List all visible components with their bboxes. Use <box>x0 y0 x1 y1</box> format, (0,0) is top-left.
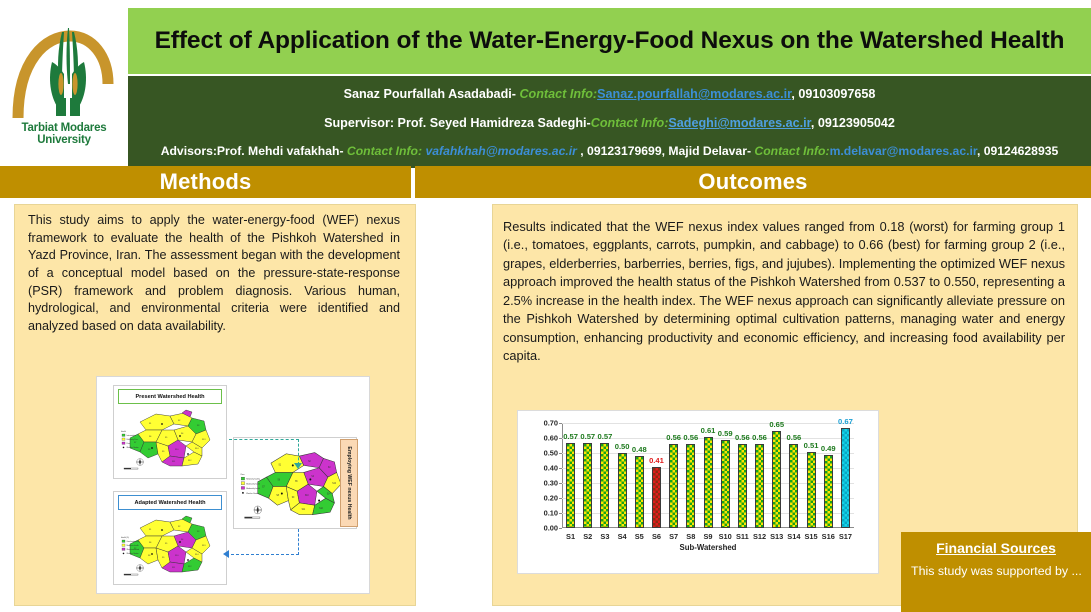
chart-x-tick-label: S11 <box>736 532 749 541</box>
svg-text:S6: S6 <box>149 436 151 438</box>
chart-y-tick-label: 0.50 <box>544 449 558 458</box>
svg-text:Health: Health <box>121 430 126 433</box>
university-logo: Tarbiat Modares University <box>0 0 128 168</box>
chart-x-tick-label: S2 <box>583 532 592 541</box>
chart-data-label: 0.48 <box>632 445 647 454</box>
map-adapted-svg: S1S2S3 S4S5S6 S7S8S9 S10S11S12 S13S14 He… <box>118 510 222 580</box>
chart-y-tick-mark <box>559 438 562 439</box>
connector-arrow-bottom-vert <box>298 529 299 555</box>
svg-text:S8: S8 <box>148 555 150 557</box>
connector-arrow-top <box>229 439 299 440</box>
chart-data-label: 0.50 <box>615 442 630 451</box>
svg-text:S1: S1 <box>149 529 151 531</box>
chart-x-tick-label: S13 <box>770 532 783 541</box>
contact-label: Contact Info: <box>347 144 426 158</box>
chart-x-tick-label: S5 <box>635 532 644 541</box>
chart-bar <box>600 443 609 529</box>
author-email-link[interactable]: Sanaz.pourfallah@modares.ac.ir <box>597 87 791 101</box>
svg-text:S9: S9 <box>162 557 164 559</box>
svg-text:S10: S10 <box>175 555 178 557</box>
chart-data-label: 0.57 <box>563 432 578 441</box>
chart-bar <box>721 440 730 529</box>
chart-y-tick-label: 0.20 <box>544 494 558 503</box>
chart-x-axis-title: Sub-Watershed <box>562 543 854 552</box>
chart-bar <box>704 437 713 529</box>
svg-text:Weather Station: Weather Station <box>246 492 258 495</box>
section-header-methods: Methods <box>0 166 411 198</box>
chart-x-tick-label: S3 <box>600 532 609 541</box>
chart-data-label: 0.57 <box>580 432 595 441</box>
map-center-canvas: S1S2S3 S4S5S6 S7S8S9 S10S11S12 S13S14 Cl… <box>238 442 352 524</box>
logo-mark-icon <box>12 22 116 126</box>
svg-text:S14: S14 <box>195 554 198 556</box>
chart-bar <box>652 467 661 529</box>
map-legend: Class Relatively healthy Moderately heal… <box>240 474 260 495</box>
chart-x-tick-label: S7 <box>669 532 678 541</box>
svg-text:Moderately health: Moderately health <box>246 482 260 485</box>
map-present-watershed-health: Present Watershed Health <box>113 385 227 479</box>
chart-x-tick-label: S4 <box>618 532 627 541</box>
chart-bar <box>635 456 644 528</box>
author-line-1: Sanaz Pourfallah Asadabadi- Contact Info… <box>128 87 1091 101</box>
arrow-head-left-icon <box>223 550 229 558</box>
map-adapted-watershed-health: Adapted Watershed Health <box>113 491 227 585</box>
svg-text:S12: S12 <box>188 460 191 462</box>
chart-y-tick-label: 0.30 <box>544 479 558 488</box>
outcomes-body-text: Results indicated that the WEF nexus ind… <box>503 218 1065 365</box>
chart-data-label: 0.56 <box>683 433 698 442</box>
watershed-map-figure: Present Watershed Health <box>96 376 370 594</box>
chart-x-tick-label: S1 <box>566 532 575 541</box>
section-header-outcomes-label: Outcomes <box>698 169 807 195</box>
svg-text:S5: S5 <box>165 437 167 439</box>
chart-x-tick-label: S14 <box>787 532 800 541</box>
svg-text:Health (%): Health (%) <box>121 536 129 539</box>
contact-label: Contact Info: <box>519 87 597 101</box>
chart-data-label: 0.61 <box>701 426 716 435</box>
svg-text:Moderately health: Moderately health <box>246 487 260 490</box>
svg-text:S13: S13 <box>202 439 205 441</box>
poster-header: Tarbiat Modares University Effect of App… <box>0 0 1091 168</box>
svg-text:S8: S8 <box>148 449 150 451</box>
svg-text:Intermediate: Intermediate <box>127 434 136 437</box>
chart-data-label: 0.65 <box>769 420 784 429</box>
chart-x-tick-label: S12 <box>753 532 766 541</box>
chart-data-label: 0.41 <box>649 456 664 465</box>
svg-text:Weak watershed: Weak watershed <box>127 548 140 551</box>
methods-body-text: This study aims to apply the water-energ… <box>28 212 400 335</box>
chart-data-label: 0.51 <box>804 441 819 450</box>
chart-y-tick-label: 0.00 <box>544 524 558 533</box>
svg-text:S4: S4 <box>181 539 183 541</box>
chart-data-label: 0.56 <box>786 433 801 442</box>
section-header-methods-label: Methods <box>160 169 252 195</box>
scale-bar <box>245 517 260 518</box>
chart-data-label: 0.59 <box>718 429 733 438</box>
chart-y-tick-label: 0.70 <box>544 419 558 428</box>
north-arrow-icon <box>254 506 261 514</box>
svg-text:S3: S3 <box>197 425 199 427</box>
svg-text:Weather Station: Weather Station <box>127 552 139 555</box>
map-present-canvas: S1S2S3 S4S5S6 S7S8S9 S10S11S12 S13S14 He… <box>118 404 222 474</box>
svg-text:S11: S11 <box>172 461 175 463</box>
chart-data-label: 0.49 <box>821 444 836 453</box>
svg-text:S9: S9 <box>162 451 164 453</box>
contact-label: Contact Info: <box>591 116 669 130</box>
svg-text:Relatively healthy: Relatively healthy <box>246 478 260 481</box>
chart-data-label: 0.56 <box>735 433 750 442</box>
map-adapted-title: Adapted Watershed Health <box>118 495 222 510</box>
chart-x-tick-label: S17 <box>839 532 852 541</box>
map-side-label-text: Employing WEF nexus Health <box>346 446 352 519</box>
chart-y-tick-mark <box>559 498 562 499</box>
chart-y-tick-mark <box>559 528 562 529</box>
chart-data-label: 0.56 <box>666 433 681 442</box>
svg-text:Good watershed: Good watershed <box>127 540 139 543</box>
svg-text:S2: S2 <box>178 526 180 528</box>
tarbiat-modares-logo-icon <box>12 22 116 126</box>
svg-text:S11: S11 <box>172 567 175 569</box>
advisor2-phone: , 09124628935 <box>977 144 1058 158</box>
poster-title-bar: Effect of Application of the Water-Energ… <box>128 8 1091 74</box>
chart-bar <box>841 428 850 529</box>
chart-y-tick-label: 0.40 <box>544 464 558 473</box>
chart-x-tick-label: S8 <box>686 532 695 541</box>
chart-bar <box>686 444 695 528</box>
chart-y-tick-mark <box>559 513 562 514</box>
chart-x-tick-label: S6 <box>652 532 661 541</box>
authors-block: Sanaz Pourfallah Asadabadi- Contact Info… <box>128 76 1091 168</box>
contact-label-2: Contact Info: <box>754 144 829 158</box>
chart-y-tick-label: 0.60 <box>544 434 558 443</box>
advisor-name: Advisors:Prof. Mehdi vafakhah- <box>161 144 347 158</box>
svg-text:Weather Station: Weather Station <box>127 446 139 449</box>
map-side-label: Employing WEF nexus Health <box>340 439 358 527</box>
chart-data-label: 0.57 <box>598 432 613 441</box>
chart-bar <box>618 453 627 528</box>
chart-x-tick-label: S10 <box>719 532 732 541</box>
svg-text:S12: S12 <box>188 566 191 568</box>
financial-sources-title: Financial Sources <box>901 540 1091 556</box>
advisor-phone: , 09123179699, Majid Delavar- <box>577 144 755 158</box>
map-present-title: Present Watershed Health <box>118 389 222 404</box>
scale-bar <box>124 468 138 469</box>
north-arrow-icon <box>137 565 144 572</box>
map-legend: Health (%) Good watershed Moderate healt… <box>121 536 139 555</box>
chart-y-tick-mark <box>559 423 562 424</box>
financial-sources-body: This study was supported by ... <box>911 564 1085 580</box>
chart-data-label: 0.56 <box>752 433 767 442</box>
chart-plot-area: 0.000.100.200.300.400.500.600.700.57S10.… <box>562 423 854 528</box>
supervisor-email-link[interactable]: Sadeghi@modares.ac.ir <box>668 116 810 130</box>
chart-bar <box>789 444 798 528</box>
north-arrow-icon <box>137 459 144 466</box>
svg-text:Moderate health: Moderate health <box>127 544 139 547</box>
wef-index-bar-chart: 0.000.100.200.300.400.500.600.700.57S10.… <box>517 410 879 574</box>
chart-bar <box>583 443 592 529</box>
svg-text:Poor: Poor <box>127 442 131 445</box>
connector-arrow-top-vert <box>298 439 299 465</box>
chart-y-tick-mark <box>559 453 562 454</box>
author-phone: , 09103097658 <box>791 87 875 101</box>
chart-x-tick-label: S9 <box>703 532 712 541</box>
author-line-2: Supervisor: Prof. Seyed Hamidreza Sadegh… <box>128 116 1091 130</box>
chart-data-label: 0.67 <box>838 417 853 426</box>
map-present-svg: S1S2S3 S4S5S6 S7S8S9 S10S11S12 S13S14 He… <box>118 404 222 474</box>
svg-text:S2: S2 <box>178 420 180 422</box>
supervisor-phone: , 09123905042 <box>811 116 895 130</box>
chart-x-tick-label: S16 <box>822 532 835 541</box>
chart-bar <box>738 444 747 528</box>
scale-bar <box>124 574 138 575</box>
arrow-head-down-icon <box>294 463 302 469</box>
chart-bar <box>824 455 833 529</box>
author-line-3: Advisors:Prof. Mehdi vafakhah- Contact I… <box>128 144 1091 158</box>
connector-arrow-bottom <box>231 554 299 555</box>
logo-text-line2: University <box>22 134 107 146</box>
advisor2-email-link[interactable]: m.delavar@modares.ac.ir <box>830 144 977 158</box>
svg-text:S10: S10 <box>175 449 178 451</box>
section-header-outcomes: Outcomes <box>415 166 1091 198</box>
svg-text:Class: Class <box>240 474 244 476</box>
chart-bar <box>755 444 764 528</box>
chart-gridline <box>562 423 854 424</box>
map-adapted-canvas: S1S2S3 S4S5S6 S7S8S9 S10S11S12 S13S14 He… <box>118 510 222 580</box>
chart-bar <box>669 444 678 528</box>
map-center-watershed: S1S2S3 S4S5S6 S7S8S9 S10S11S12 S13S14 Cl… <box>233 437 357 529</box>
svg-text:S13: S13 <box>202 545 205 547</box>
supervisor-name: Supervisor: Prof. Seyed Hamidreza Sadegh… <box>324 116 591 130</box>
chart-bar <box>772 431 781 529</box>
svg-text:S5: S5 <box>165 543 167 545</box>
chart-y-tick-label: 0.10 <box>544 509 558 518</box>
svg-text:S14: S14 <box>195 448 198 450</box>
page-title: Effect of Application of the Water-Energ… <box>155 27 1065 55</box>
svg-text:Relatively Poor: Relatively Poor <box>127 438 139 441</box>
financial-sources-box: Financial Sources This study was support… <box>901 532 1091 612</box>
author-name: Sanaz Pourfallah Asadabadi- <box>344 87 520 101</box>
chart-bar <box>566 443 575 529</box>
svg-text:S6: S6 <box>149 542 151 544</box>
chart-bar <box>807 452 816 529</box>
advisor-email-link[interactable]: vafahkhah@modares.ac.ir <box>425 144 576 158</box>
chart-y-tick-mark <box>559 468 562 469</box>
svg-text:S3: S3 <box>197 531 199 533</box>
map-legend: Health Intermediate Relatively Poor Poor… <box>121 430 139 449</box>
map-center-svg: S1S2S3 S4S5S6 S7S8S9 S10S11S12 S13S14 Cl… <box>238 442 352 524</box>
svg-text:S7: S7 <box>134 442 136 444</box>
chart-y-tick-mark <box>559 483 562 484</box>
chart-x-tick-label: S15 <box>804 532 817 541</box>
svg-text:S1: S1 <box>149 423 151 425</box>
svg-text:S4: S4 <box>181 433 183 435</box>
